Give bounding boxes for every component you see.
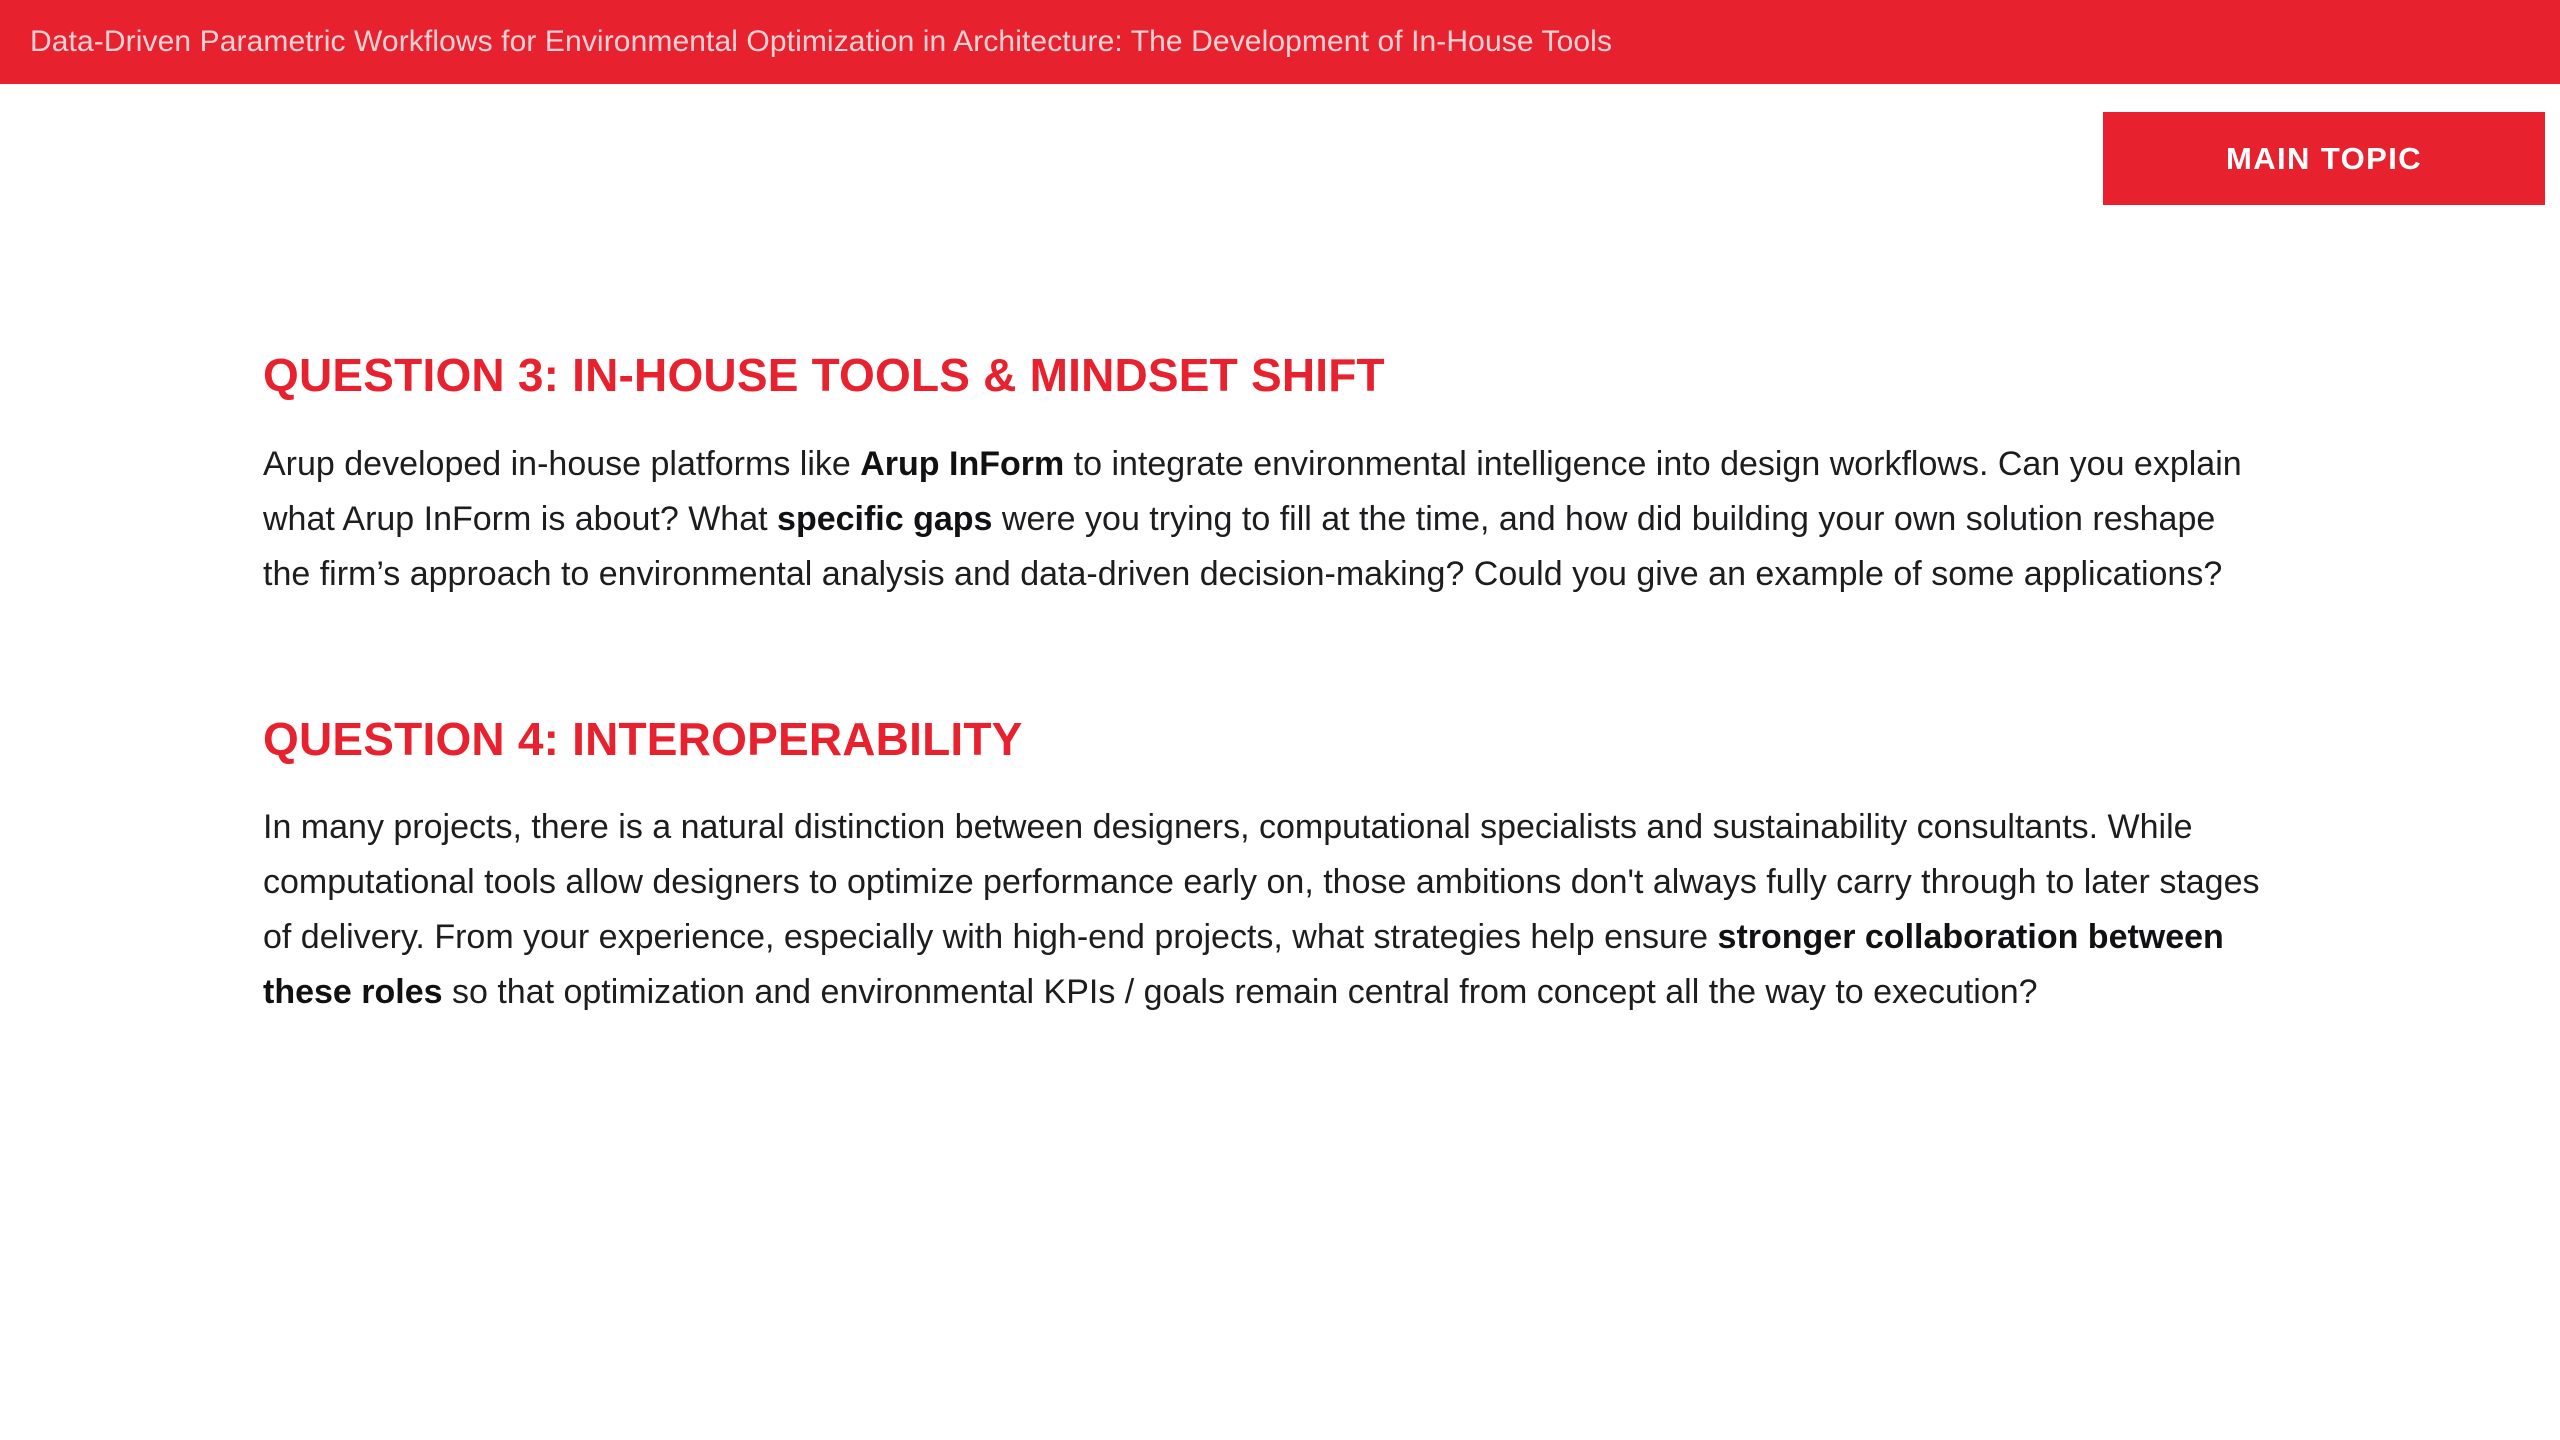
presentation-title: Data-Driven Parametric Workflows for Env… [30, 25, 1612, 59]
question-4-body: In many projects, there is a natural dis… [263, 800, 2263, 1020]
slide-root: Data-Driven Parametric Workflows for Env… [0, 0, 2560, 1440]
section-spacer [263, 602, 2363, 714]
question-block-3: QUESTION 3: IN-HOUSE TOOLS & MINDSET SHI… [263, 350, 2363, 602]
question-block-4: QUESTION 4: INTEROPERABILITY In many pro… [263, 714, 2363, 1021]
question-3-body: Arup developed in-house platforms like A… [263, 437, 2253, 602]
main-topic-label: MAIN TOPIC [2226, 141, 2422, 177]
content-column: QUESTION 3: IN-HOUSE TOOLS & MINDSET SHI… [263, 350, 2363, 1020]
header-bar: Data-Driven Parametric Workflows for Env… [0, 0, 2560, 84]
main-topic-badge: MAIN TOPIC [2103, 112, 2545, 205]
question-4-heading: QUESTION 4: INTEROPERABILITY [263, 714, 2363, 765]
question-3-heading: QUESTION 3: IN-HOUSE TOOLS & MINDSET SHI… [263, 350, 2363, 401]
